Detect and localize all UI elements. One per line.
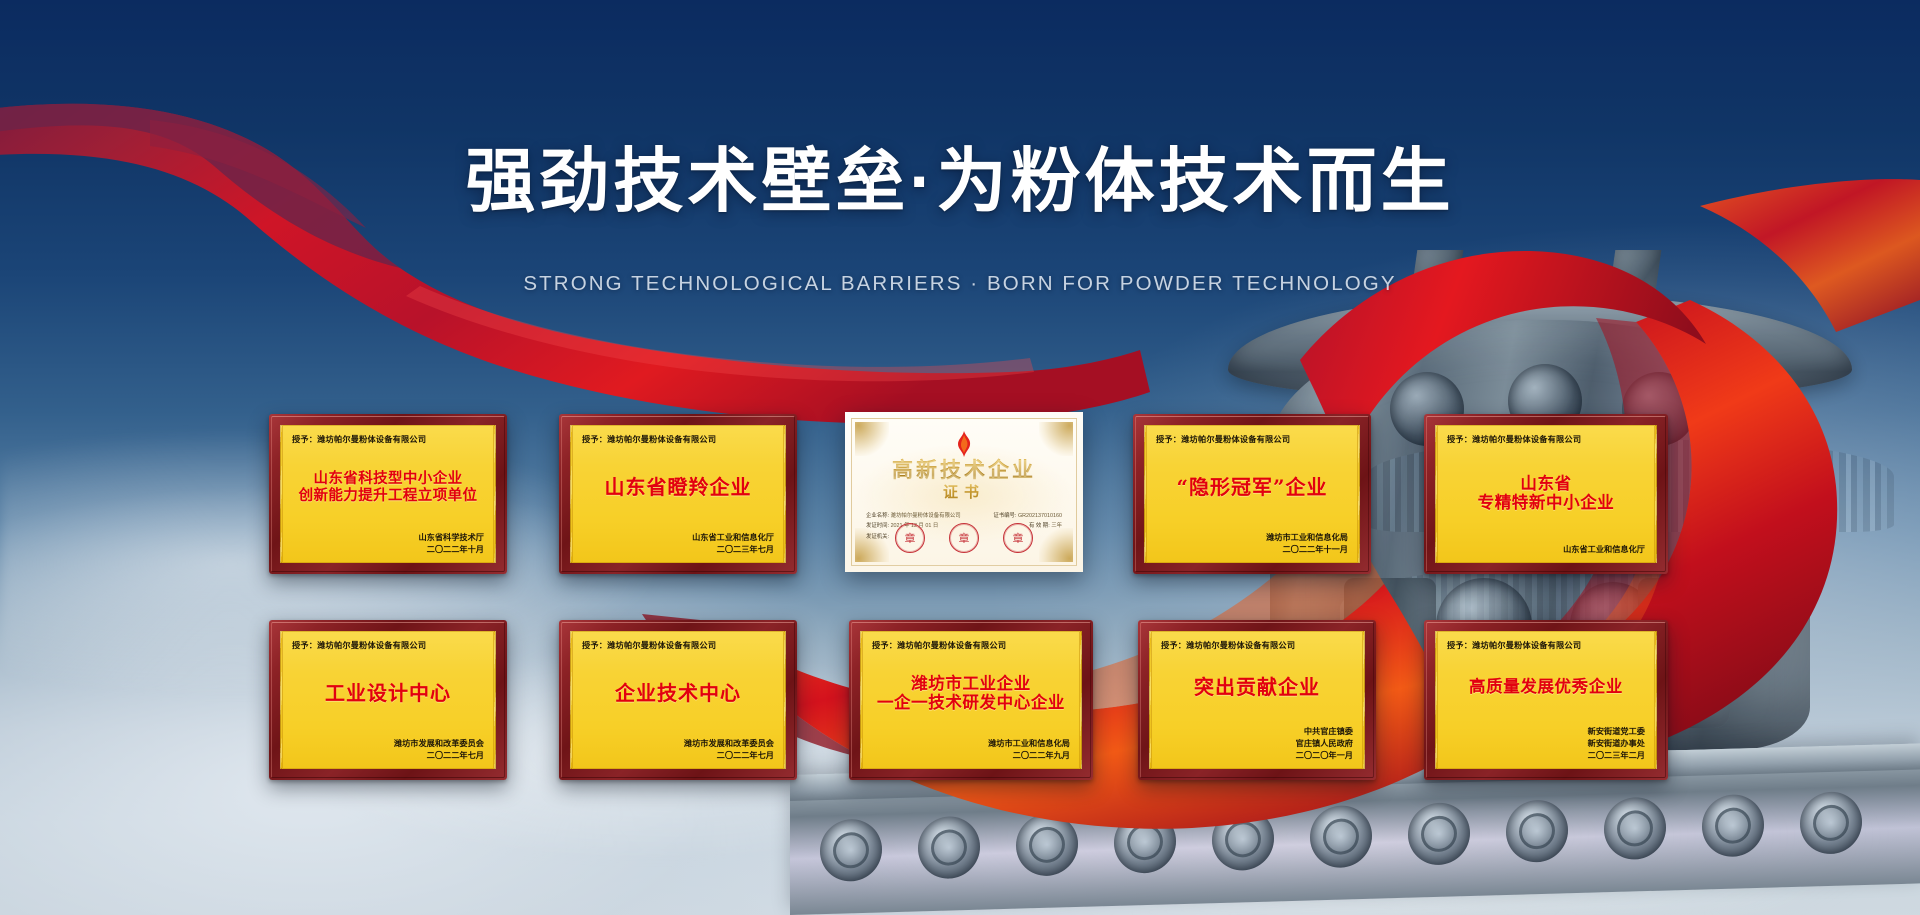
plaque-sd-specialized-sme[interactable]: 授予：潍坊帕尔曼粉体设备有限公司 山东省 专精特新中小企业 山东省工业和信息化厅 (1424, 414, 1668, 574)
plaque-date: 二〇二二年七月 (582, 750, 774, 762)
plaque-title-line: 企业技术中心 (615, 682, 741, 705)
plaque-issuer: 官庄镇人民政府 (1161, 738, 1353, 750)
certificate-corner-ornament (855, 422, 889, 456)
plaque-issuer: 潍坊市发展和改革委员会 (292, 738, 484, 750)
official-seal-icon: 章 (949, 523, 979, 553)
plaque-footer: 中共官庄镇委 官庄镇人民政府 二〇二〇年一月 (1161, 726, 1353, 762)
plaque-issuer: 新安街道党工委 (1447, 726, 1645, 738)
plaque-award-line: 授予：潍坊帕尔曼粉体设备有限公司 (582, 433, 774, 445)
plaque-date: 二〇二二年十一月 (1156, 544, 1348, 556)
plaque-one-enterprise-one-tech-rd-center[interactable]: 授予：潍坊帕尔曼粉体设备有限公司 潍坊市工业企业 一企一技术研发中心企业 潍坊市… (849, 620, 1093, 780)
plaque-issuer: 潍坊市工业和信息化局 (872, 738, 1070, 750)
plaque-title-line: 山东省科技型中小企业 (314, 471, 463, 488)
plaque-footer: 山东省工业和信息化厅 (1447, 544, 1645, 556)
plaque-footer: 潍坊市发展和改革委员会 二〇二二年七月 (582, 738, 774, 762)
plaque-title-line: 山东省 (1520, 475, 1571, 494)
plaque-award-line: 授予：潍坊帕尔曼粉体设备有限公司 (292, 433, 484, 445)
certificate-corner-ornament (1039, 422, 1073, 456)
plaque-title: 山东省 专精特新中小企业 (1447, 445, 1645, 544)
plaque-title-line: 专精特新中小企业 (1478, 494, 1615, 513)
plaque-footer: 潍坊市工业和信息化局 二〇二二年十一月 (1156, 532, 1348, 556)
plaque-title-line: 一企一技术研发中心企业 (877, 694, 1065, 713)
plaque-title-line: 高质量发展优秀企业 (1469, 678, 1623, 697)
plaque-date: 二〇二三年二月 (1447, 750, 1645, 762)
certificate-field-label: 企业名称: (866, 513, 889, 519)
plaque-date: 二〇二二年九月 (872, 750, 1070, 762)
plaque-issuer: 潍坊市工业和信息化局 (1156, 532, 1348, 544)
plaque-sd-tech-sme-innovation[interactable]: 授予：潍坊帕尔曼粉体设备有限公司 山东省科技型中小企业 创新能力提升工程立项单位… (269, 414, 507, 574)
plaque-date: 二〇二二年十月 (292, 544, 484, 556)
certificate-title: 高新技术企业 (852, 454, 1076, 484)
plaque-award-line: 授予：潍坊帕尔曼粉体设备有限公司 (1161, 639, 1353, 651)
plaque-enterprise-tech-center[interactable]: 授予：潍坊帕尔曼粉体设备有限公司 企业技术中心 潍坊市发展和改革委员会 二〇二二… (559, 620, 797, 780)
plaque-industrial-design-center[interactable]: 授予：潍坊帕尔曼粉体设备有限公司 工业设计中心 潍坊市发展和改革委员会 二〇二二… (269, 620, 507, 780)
certificate-field-value: 潍坊帕尔曼粉体设备有限公司 (891, 513, 961, 519)
plaque-title: “隐形冠军”企业 (1156, 445, 1348, 532)
plaque-date: 二〇二〇年一月 (1161, 750, 1353, 762)
plaque-award-line: 授予：潍坊帕尔曼粉体设备有限公司 (872, 639, 1070, 651)
plaque-title: 山东省瞪羚企业 (582, 445, 774, 532)
plaque-outstanding-contribution-enterprise[interactable]: 授予：潍坊帕尔曼粉体设备有限公司 突出贡献企业 中共官庄镇委 官庄镇人民政府 二… (1138, 620, 1376, 780)
plaque-footer: 潍坊市工业和信息化局 二〇二二年九月 (872, 738, 1070, 762)
plaque-title-line: 创新能力提升工程立项单位 (299, 488, 478, 505)
certificate-subtitle: 证书 (852, 481, 1076, 502)
plaque-award-line: 授予：潍坊帕尔曼粉体设备有限公司 (582, 639, 774, 651)
plaque-issuer: 潍坊市发展和改革委员会 (582, 738, 774, 750)
plaque-footer: 新安街道党工委 新安街道办事处 二〇二三年二月 (1447, 726, 1645, 762)
plaque-award-line: 授予：潍坊帕尔曼粉体设备有限公司 (1447, 639, 1645, 651)
plaque-title-line: 工业设计中心 (325, 682, 451, 705)
plaque-title-line: “隐形冠军”企业 (1176, 476, 1327, 499)
plaque-high-quality-development-excellent-enterprise[interactable]: 授予：潍坊帕尔曼粉体设备有限公司 高质量发展优秀企业 新安街道党工委 新安街道办… (1424, 620, 1668, 780)
plaque-issuer: 新安街道办事处 (1447, 738, 1645, 750)
plaque-date: 二〇二二年七月 (292, 750, 484, 762)
plaque-title: 工业设计中心 (292, 651, 484, 738)
banner-stage: 强劲技术壁垒·为粉体技术而生 STRONG TECHNOLOGICAL BARR… (0, 0, 1920, 915)
plaque-issuer: 山东省工业和信息化厅 (1447, 544, 1645, 556)
plaque-sd-gazelle-enterprise[interactable]: 授予：潍坊帕尔曼粉体设备有限公司 山东省瞪羚企业 山东省工业和信息化厅 二〇二三… (559, 414, 797, 574)
official-seal-icon: 章 (895, 523, 925, 553)
plaque-footer: 潍坊市发展和改革委员会 二〇二二年七月 (292, 738, 484, 762)
plaque-title-line: 山东省瞪羚企业 (605, 476, 752, 499)
certificate-field-value: GR202137010160 (1018, 513, 1062, 519)
plaque-title: 山东省科技型中小企业 创新能力提升工程立项单位 (292, 445, 484, 532)
plaque-title-line: 突出贡献企业 (1194, 676, 1320, 699)
plaque-title: 突出贡献企业 (1161, 651, 1353, 726)
plaque-issuer: 山东省科学技术厅 (292, 532, 484, 544)
plaque-title: 企业技术中心 (582, 651, 774, 738)
plaque-award-line: 授予：潍坊帕尔曼粉体设备有限公司 (292, 639, 484, 651)
plaque-title-line: 潍坊市工业企业 (911, 675, 1031, 694)
plaque-issuer: 中共官庄镇委 (1161, 726, 1353, 738)
plaque-issuer: 山东省工业和信息化厅 (582, 532, 774, 544)
plaque-date: 二〇二三年七月 (582, 544, 774, 556)
plaque-award-line: 授予：潍坊帕尔曼粉体设备有限公司 (1156, 433, 1348, 445)
plaque-title: 潍坊市工业企业 一企一技术研发中心企业 (872, 651, 1070, 738)
plaque-footer: 山东省科学技术厅 二〇二二年十月 (292, 532, 484, 556)
plaque-footer: 山东省工业和信息化厅 二〇二三年七月 (582, 532, 774, 556)
plaque-award-line: 授予：潍坊帕尔曼粉体设备有限公司 (1447, 433, 1645, 445)
official-seal-icon: 章 (1003, 523, 1033, 553)
certificate-field-label: 证书编号: (993, 513, 1016, 519)
plaque-title: 高质量发展优秀企业 (1447, 651, 1645, 726)
plaque-hidden-champion-enterprise[interactable]: 授予：潍坊帕尔曼粉体设备有限公司 “隐形冠军”企业 潍坊市工业和信息化局 二〇二… (1133, 414, 1371, 574)
high-tech-enterprise-certificate[interactable]: 高新技术企业 证书 企业名称: 潍坊帕尔曼粉体设备有限公司 证书编号: GR20… (845, 412, 1083, 572)
certificate-grid: 授予：潍坊帕尔曼粉体设备有限公司 山东省科技型中小企业 创新能力提升工程立项单位… (0, 0, 1920, 915)
certificate-seals: 章 章 章 (852, 523, 1076, 553)
